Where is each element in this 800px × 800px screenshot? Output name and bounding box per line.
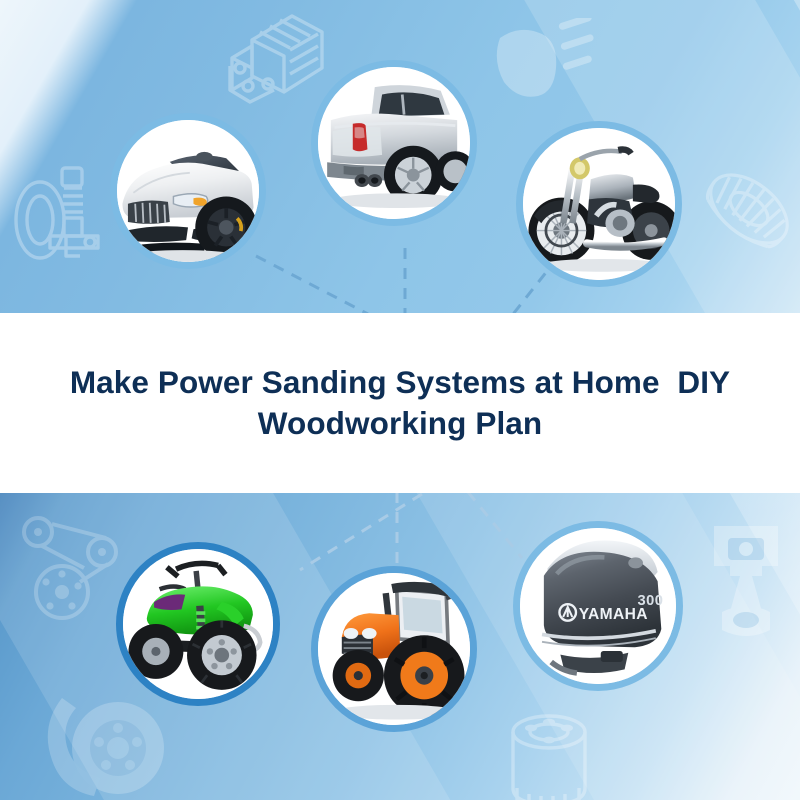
page-title: Make Power Sanding Systems at Home DIY W… [15, 362, 785, 444]
badge-sports-car[interactable] [110, 113, 266, 269]
outboard-motor-image: YAMAHA 300 [520, 528, 676, 684]
motorcycle-image [523, 128, 675, 280]
title-band: Make Power Sanding Systems at Home DIY W… [0, 313, 800, 493]
badge-pickup-truck[interactable] [311, 60, 477, 226]
engine-block-icon [218, 6, 330, 110]
promo-banner: Make Power Sanding Systems at Home DIY W… [0, 0, 800, 800]
svg-text:300: 300 [637, 593, 663, 609]
atv-quad-image [123, 549, 273, 699]
shock-absorber-icon [6, 158, 124, 274]
pickup-truck-image [318, 67, 470, 219]
sports-car-image [117, 120, 259, 262]
dashed-connector-bottom-center [382, 492, 412, 564]
dashed-connector-left [250, 250, 440, 314]
badge-motorcycle[interactable] [516, 121, 682, 287]
top-panel [0, 0, 800, 314]
badge-atv-quad[interactable] [116, 542, 280, 706]
top-diagonal-highlight-1 [0, 0, 608, 30]
badge-tractor[interactable] [311, 566, 477, 732]
dashed-connector-center [390, 248, 420, 314]
tractor-image [318, 573, 470, 725]
badge-outboard-motor[interactable]: YAMAHA 300 [513, 521, 683, 691]
bottom-panel: YAMAHA 300 [0, 492, 800, 800]
